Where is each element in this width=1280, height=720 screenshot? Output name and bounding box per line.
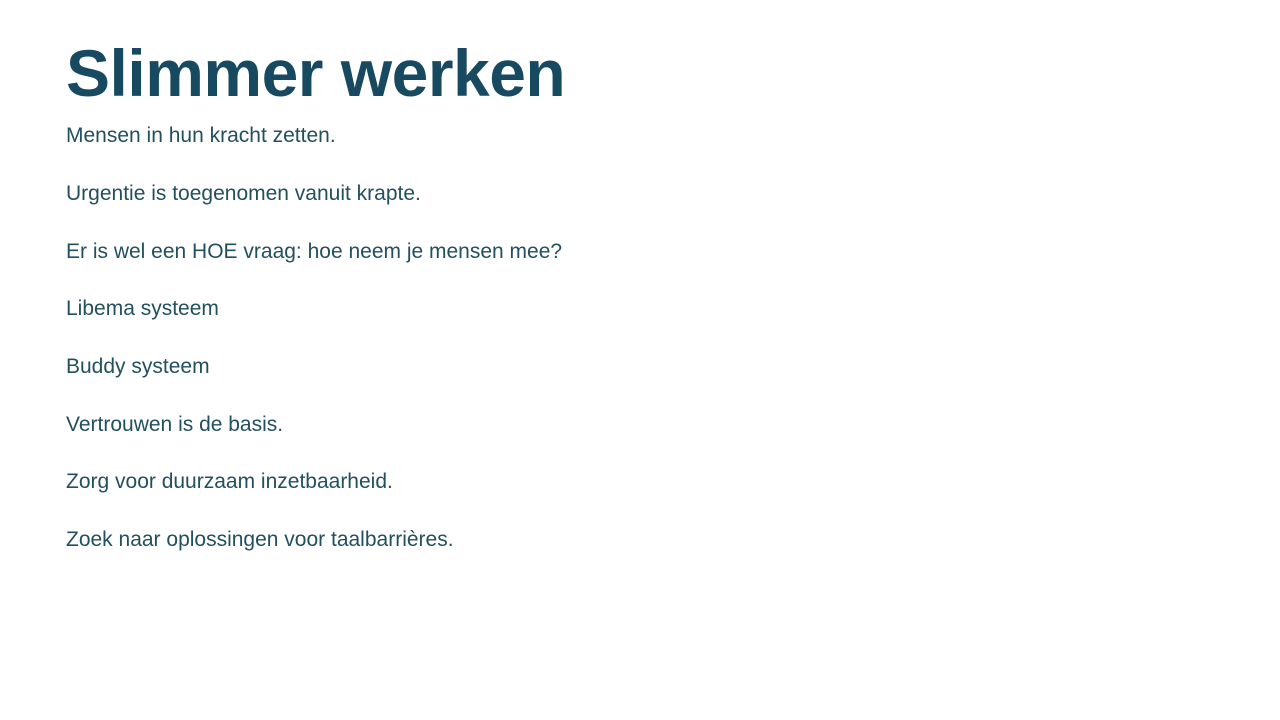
list-item: Zoek naar oplossingen voor taalbarrières… (66, 527, 1216, 585)
list-item-label: Er is wel een HOE vraag: hoe neem je men… (66, 239, 562, 264)
list-item-label: Mensen in hun kracht zetten. (66, 123, 336, 148)
list-item: Zorg voor duurzaam inzetbaarheid. (66, 469, 1216, 527)
list-item: Mensen in hun kracht zetten. (66, 123, 1216, 181)
list-item-label: Urgentie is toegenomen vanuit krapte. (66, 181, 421, 206)
list-item: Buddy systeem (66, 354, 1216, 412)
list-item-label: Buddy systeem (66, 354, 210, 379)
list-item-label: Vertrouwen is de basis. (66, 412, 283, 437)
list-item: Vertrouwen is de basis. (66, 412, 1216, 470)
slide-body-text-list: Mensen in hun kracht zetten. Urgentie is… (66, 123, 1216, 585)
list-item: Er is wel een HOE vraag: hoe neem je men… (66, 239, 1216, 297)
page-title: Slimmer werken (66, 38, 1216, 109)
slide-content: Slimmer werken Mensen in hun kracht zett… (66, 38, 1216, 585)
presentation-slide: Slimmer werken Mensen in hun kracht zett… (0, 0, 1280, 720)
list-item: Urgentie is toegenomen vanuit krapte. (66, 181, 1216, 239)
list-item: Libema systeem (66, 296, 1216, 354)
list-item-label: Zorg voor duurzaam inzetbaarheid. (66, 469, 393, 494)
list-item-label: Zoek naar oplossingen voor taalbarrières… (66, 527, 454, 552)
list-item-label: Libema systeem (66, 296, 219, 321)
